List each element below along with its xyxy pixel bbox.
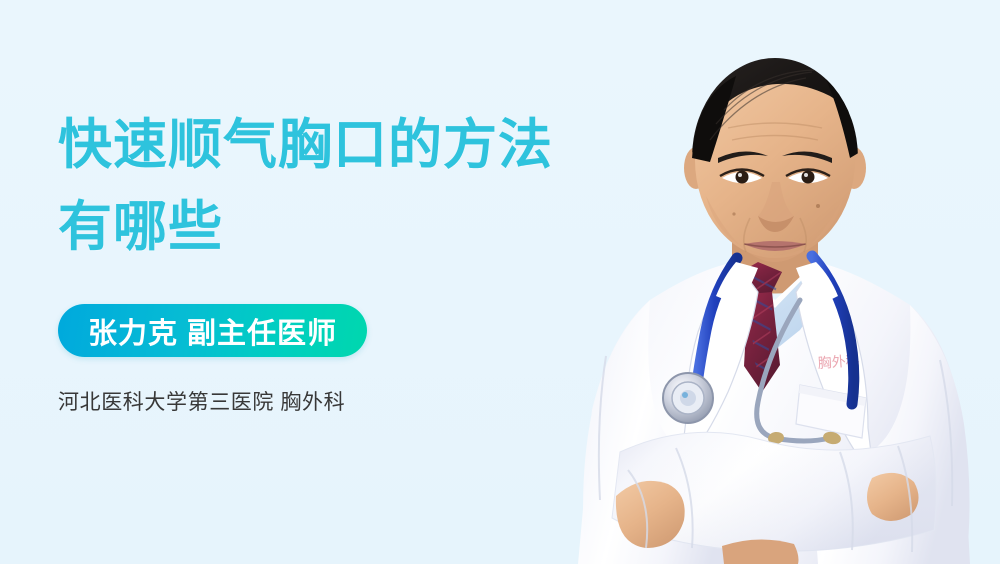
headline-block: 快速顺气胸口的方法 有哪些 张力克 副主任医师 河北医科大学第三医院 胸外科 — [58, 104, 618, 416]
hospital-affiliation: 河北医科大学第三医院 胸外科 — [58, 386, 618, 416]
video-thumbnail: 胸外科 — [0, 0, 1000, 564]
doctor-credential-badge: 张力克 副主任医师 — [58, 304, 367, 357]
title-line-2: 有哪些 — [58, 186, 618, 268]
title-line-1: 快速顺气胸口的方法 — [58, 104, 618, 186]
